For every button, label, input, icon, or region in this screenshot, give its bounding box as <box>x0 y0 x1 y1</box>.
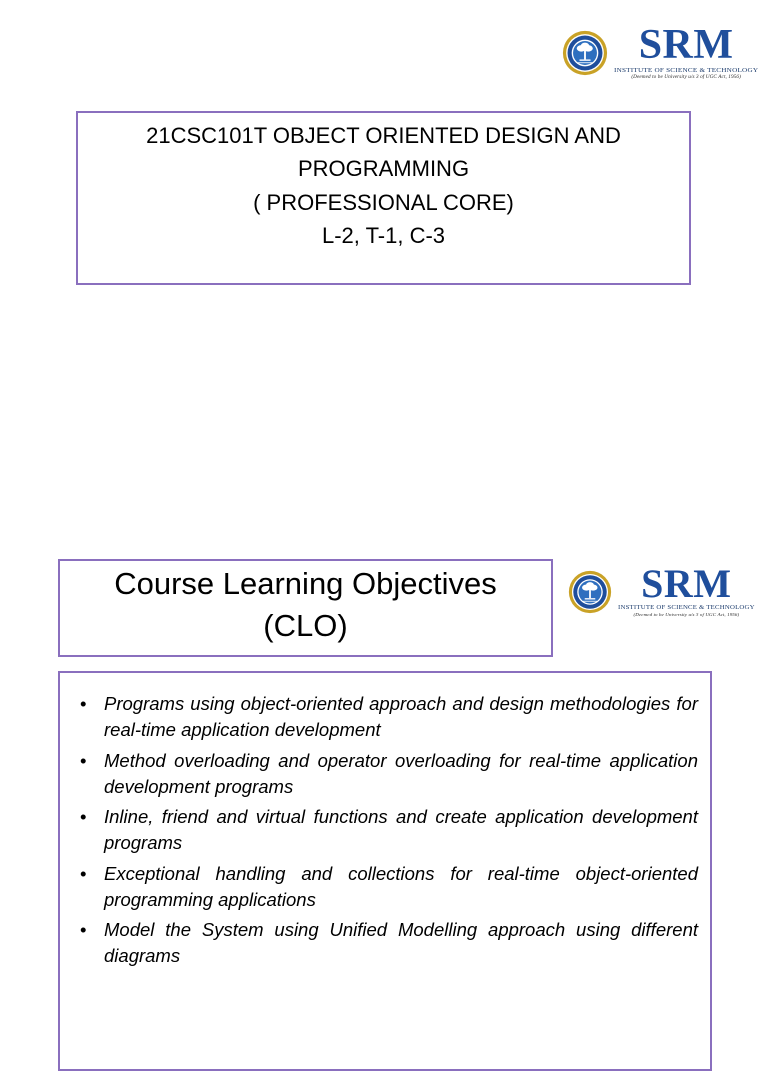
list-item: • Exceptional handling and collections f… <box>70 861 698 914</box>
srm-institute-line: INSTITUTE OF SCIENCE & TECHNOLOGY <box>614 67 758 73</box>
clo-heading-text: Course Learning Objectives (CLO) <box>114 561 497 646</box>
srm-institute-line: INSTITUTE OF SCIENCE & TECHNOLOGY <box>618 605 755 611</box>
srm-wordmark: SRM <box>641 566 731 603</box>
list-item: • Model the System using Unified Modelli… <box>70 917 698 970</box>
bullet-icon: • <box>80 748 86 774</box>
clo-heading-box: Course Learning Objectives (CLO) <box>58 559 553 657</box>
course-title-text: 21CSC101T OBJECT ORIENTED DESIGN AND PRO… <box>78 113 689 253</box>
srm-deemed-university-line: (Deemed to be University u/s 3 of UGC Ac… <box>631 75 741 80</box>
clo-objectives-list: • Programs using object-oriented approac… <box>70 691 698 970</box>
clo-srm-logo: SRM INSTITUTE OF SCIENCE & TECHNOLOGY (D… <box>568 566 755 618</box>
bullet-icon: • <box>80 917 86 943</box>
clo-body-box: • Programs using object-oriented approac… <box>58 671 712 1071</box>
bullet-icon: • <box>80 861 86 887</box>
bullet-icon: • <box>80 804 86 830</box>
list-item-label: Programs using object-oriented approach … <box>104 693 698 740</box>
course-title-box: 21CSC101T OBJECT ORIENTED DESIGN AND PRO… <box>76 111 691 285</box>
list-item: • Method overloading and operator overlo… <box>70 748 698 801</box>
list-item-label: Method overloading and operator overload… <box>104 750 698 797</box>
srm-wordmark: SRM <box>639 26 734 65</box>
list-item: • Inline, friend and virtual functions a… <box>70 804 698 857</box>
srm-wordmark-block: SRM INSTITUTE OF SCIENCE & TECHNOLOGY (D… <box>618 566 755 618</box>
header-srm-logo: SRM INSTITUTE OF SCIENCE & TECHNOLOGY (D… <box>562 26 758 80</box>
list-item-label: Model the System using Unified Modelling… <box>104 919 698 966</box>
srm-wordmark-block: SRM INSTITUTE OF SCIENCE & TECHNOLOGY (D… <box>614 26 758 80</box>
list-item-label: Exceptional handling and collections for… <box>104 863 698 910</box>
srm-seal-icon <box>562 30 608 76</box>
srm-seal-icon <box>568 570 612 614</box>
list-item: • Programs using object-oriented approac… <box>70 691 698 744</box>
list-item-label: Inline, friend and virtual functions and… <box>104 806 698 853</box>
bullet-icon: • <box>80 691 86 717</box>
srm-deemed-university-line: (Deemed to be University u/s 3 of UGC Ac… <box>633 613 739 618</box>
